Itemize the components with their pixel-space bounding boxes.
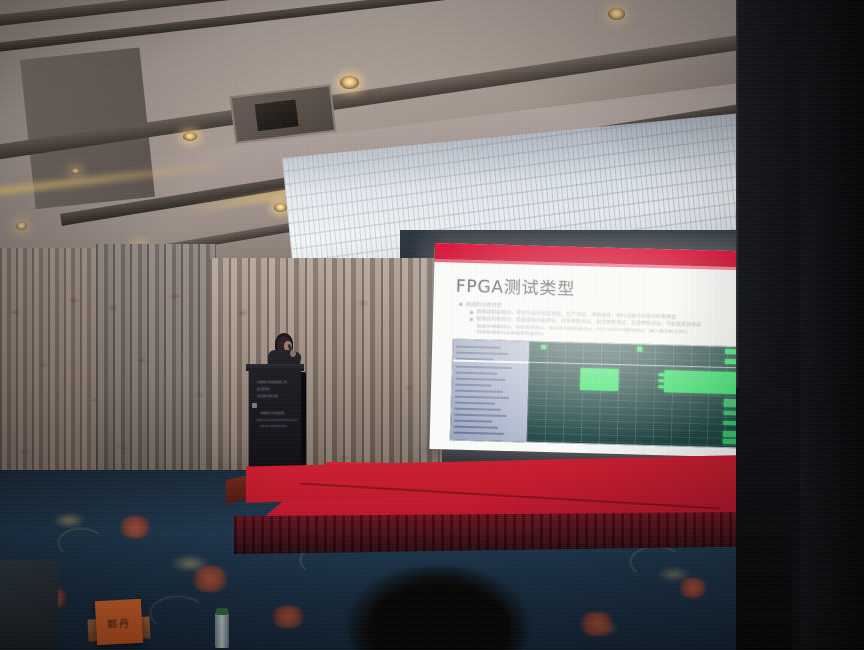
ceiling-downlight-icon: [608, 8, 625, 20]
name-card-text: 郭丹: [107, 615, 132, 631]
ceiling-downlight-icon: [274, 203, 287, 212]
podium-line: 第 研究所: [257, 387, 270, 392]
waveform-signal-name-panel: [451, 340, 530, 442]
podium-line: GROUP CORPORATION: [260, 425, 287, 429]
water-bottle-cap: [216, 608, 228, 615]
conference-room-photo: CETC 中国电科 FPGA测试类型 测试的分类方式 按测试阶段划分，可分为设计…: [0, 0, 864, 650]
ceiling-downlight-icon: [71, 168, 80, 174]
dark-column-inner: [800, 0, 864, 650]
name-card: 郭丹: [95, 599, 143, 645]
bullet-text: 测试的分类方式: [465, 302, 501, 309]
water-bottle: [215, 612, 229, 648]
bullet-text: 时钟管理单元与高速收发器测试: [477, 331, 544, 338]
ceiling-downlight-icon: [340, 76, 359, 89]
podium: 中国电子科技集团公司 第 研究所 测试技术研讨会 中国电子科技集团 CHINA …: [249, 368, 301, 478]
ceiling-downlight-icon: [183, 132, 197, 141]
podium-line: CHINA ELECTRONICS TECHNOLOGY: [256, 419, 298, 423]
slide-title: FPGA测试类型: [456, 272, 576, 300]
ceiling-downlight-icon: [16, 222, 27, 230]
podium-line: 测试技术研讨会: [257, 394, 278, 399]
podium-emblem-icon: [252, 403, 257, 408]
podium-line: 中国电子科技集团: [260, 411, 284, 416]
podium-line: 中国电子科技集团公司: [257, 380, 287, 385]
foreground-chair: [0, 560, 58, 650]
dark-column-base: [736, 388, 792, 650]
speaker-hand: [290, 350, 296, 357]
